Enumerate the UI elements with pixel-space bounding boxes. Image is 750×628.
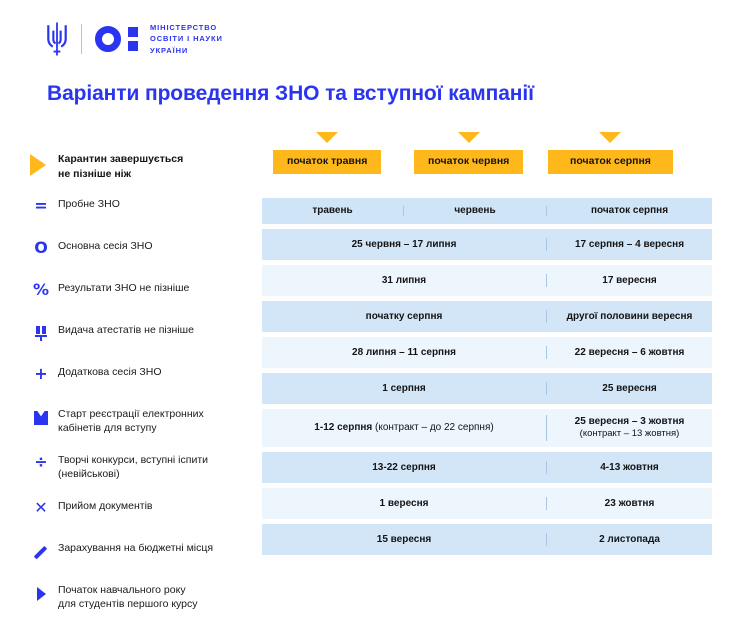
- cell-right-note: (контракт – 13 жовтня): [580, 428, 680, 441]
- legend-label-line2: кабінетів для вступу: [58, 421, 204, 435]
- scenario-august[interactable]: початок серпня: [548, 132, 673, 174]
- cell-left: 15 вересня: [262, 533, 546, 547]
- legend-item-label: Творчі конкурси, вступні іспити (невійсь…: [58, 452, 208, 482]
- cell-right: 17 серпня – 4 вересня: [546, 238, 712, 252]
- cell-left: 31 липня: [262, 274, 546, 288]
- legend-item-probne-zno: = Пробне ЗНО: [28, 196, 263, 238]
- table-row: 28 липня – 11 серпня 22 вересня – 6 жовт…: [262, 337, 712, 368]
- legend-label-line1: Пробне ЗНО: [58, 197, 120, 211]
- ministry-name: МІНІСТЕРСТВО ОСВІТИ І НАУКИ УКРАЇНИ: [150, 22, 223, 57]
- quarantine-note: Карантин завершується не пізніше ніж: [30, 152, 260, 182]
- legend-label-line1: Основна сесія ЗНО: [58, 239, 153, 253]
- triangle-right-icon: [30, 154, 46, 176]
- triangle-down-icon: [316, 132, 338, 143]
- ukraine-trident-icon: [46, 22, 68, 56]
- equals-icon: =: [28, 196, 54, 214]
- ministry-ring-icon: [95, 26, 121, 52]
- triangle-down-icon: [458, 132, 480, 143]
- legend-label-line1: Початок навчального року: [58, 583, 198, 597]
- scenario-june-label: початок червня: [414, 150, 523, 174]
- column-header-may: травень: [262, 206, 403, 216]
- cell-right: другої половини вересня: [546, 310, 712, 324]
- legend-label-line2: (невійськові): [58, 467, 208, 481]
- ministry-name-line3: УКРАЇНИ: [150, 45, 223, 57]
- cell-right: 25 вересня – 3 жовтня (контракт – 13 жов…: [546, 415, 712, 441]
- table-header-row: травень червень початок серпня: [262, 198, 712, 224]
- legend-label-line1: Прийом документів: [58, 499, 152, 513]
- cell-right-main: 25 вересня – 3 жовтня: [575, 415, 685, 429]
- cell-left: 1 серпня: [262, 382, 546, 396]
- cell-right: 23 жовтня: [546, 497, 712, 511]
- cell-left: початку серпня: [262, 310, 546, 324]
- legend-item-dodatkova-sesiya: + Додаткова сесія ЗНО: [28, 364, 263, 406]
- circle-icon: O: [28, 238, 54, 256]
- cell-left-main: 1-12 серпня: [314, 422, 372, 433]
- legend-label-line1: Видача атестатів не пізніше: [58, 323, 194, 337]
- legend-item-pochatok-navchannya: Початок навчального року для студентів п…: [28, 582, 263, 628]
- cell-right: 17 вересня: [546, 274, 712, 288]
- logo-divider: [81, 24, 82, 54]
- legend-item-reestratsiya-kabinetiv: Старт реєстрації електронних кабінетів д…: [28, 406, 263, 452]
- legend-item-label: Зарахування на бюджетні місця: [58, 540, 213, 555]
- quarantine-label: Карантин завершується не пізніше ніж: [58, 152, 183, 182]
- column-header-august: початок серпня: [546, 206, 712, 216]
- legend-item-label: Додаткова сесія ЗНО: [58, 364, 162, 379]
- legend-item-label: Прийом документів: [58, 498, 152, 513]
- table-row: 13-22 серпня 4-13 жовтня: [262, 452, 712, 483]
- table-row: 25 червня – 17 липня 17 серпня – 4 верес…: [262, 229, 712, 260]
- legend-item-label: Видача атестатів не пізніше: [58, 322, 194, 337]
- legend-item-label: Результати ЗНО не пізніше: [58, 280, 189, 295]
- schedule-table: травень червень початок серпня 25 червня…: [262, 198, 712, 555]
- legend-label-line1: Творчі конкурси, вступні іспити: [58, 453, 208, 467]
- page-title: Варіанти проведення ЗНО та вступної камп…: [47, 82, 534, 106]
- table-row: 1-12 серпня (контракт – до 22 серпня) 25…: [262, 409, 712, 447]
- legend-item-osnovna-sesiya: O Основна сесія ЗНО: [28, 238, 263, 280]
- plus-icon: +: [28, 364, 54, 382]
- legend-item-label: Основна сесія ЗНО: [58, 238, 153, 253]
- ministry-name-line1: МІНІСТЕРСТВО: [150, 22, 223, 34]
- ministry-logo: МІНІСТЕРСТВО ОСВІТИ І НАУКИ УКРАЇНИ: [46, 18, 223, 60]
- cell-left: 1 вересня: [262, 497, 546, 511]
- legend-label-line1: Зарахування на бюджетні місця: [58, 541, 213, 555]
- legend-item-label: Початок навчального року для студентів п…: [58, 582, 198, 612]
- cabinet-icon: [28, 406, 54, 425]
- legend-item-pryyom-dokumentiv: ✕ Прийом документів: [28, 498, 263, 540]
- cell-left: 1-12 серпня (контракт – до 22 серпня): [262, 421, 546, 435]
- legend-list: = Пробне ЗНО O Основна сесія ЗНО % Резул…: [28, 196, 263, 628]
- legend-label-line1: Старт реєстрації електронних: [58, 407, 204, 421]
- table-row: початку серпня другої половини вересня: [262, 301, 712, 332]
- divide-icon: ÷: [28, 452, 54, 470]
- ministry-name-line2: ОСВІТИ І НАУКИ: [150, 33, 223, 45]
- cell-left: 25 червня – 17 липня: [262, 238, 546, 252]
- table-row: 1 серпня 25 вересня: [262, 373, 712, 404]
- legend-item-rezultaty-zno: % Результати ЗНО не пізніше: [28, 280, 263, 322]
- ministry-squares-icon: [128, 27, 138, 51]
- quarantine-line1: Карантин завершується: [58, 152, 183, 167]
- ministry-emblem: [95, 26, 138, 52]
- scenario-may[interactable]: початок травня: [273, 132, 381, 174]
- legend-item-tvorchi-konkursy: ÷ Творчі конкурси, вступні іспити (невій…: [28, 452, 263, 498]
- multiply-icon: ✕: [28, 498, 54, 516]
- table-row: 31 липня 17 вересня: [262, 265, 712, 296]
- triangle-down-icon: [599, 132, 621, 143]
- legend-label-line1: Додаткова сесія ЗНО: [58, 365, 162, 379]
- certificate-icon: [28, 322, 54, 341]
- cell-left-note: (контракт – до 22 серпня): [375, 422, 494, 433]
- legend-label-line2: для студентів першого курсу: [58, 597, 198, 611]
- scenario-june[interactable]: початок червня: [414, 132, 523, 174]
- scenario-august-label: початок серпня: [548, 150, 673, 174]
- column-header-june: червень: [403, 206, 546, 216]
- table-row: 15 вересня 2 листопада: [262, 524, 712, 555]
- legend-item-vydacha-atestativ: Видача атестатів не пізніше: [28, 322, 263, 364]
- cell-right: 22 вересня – 6 жовтня: [546, 346, 712, 360]
- table-row: 1 вересня 23 жовтня: [262, 488, 712, 519]
- cell-right: 2 листопада: [546, 533, 712, 547]
- legend-item-label: Пробне ЗНО: [58, 196, 120, 211]
- triangle-right-icon: [28, 582, 54, 601]
- scenario-may-label: початок травня: [273, 150, 381, 174]
- legend-label-line1: Результати ЗНО не пізніше: [58, 281, 189, 295]
- legend-item-label: Старт реєстрації електронних кабінетів д…: [58, 406, 204, 436]
- scenario-headers: початок травня початок червня початок се…: [262, 132, 712, 182]
- quarantine-line2: не пізніше ніж: [58, 167, 183, 182]
- cell-right: 4-13 жовтня: [546, 461, 712, 475]
- cell-left: 13-22 серпня: [262, 461, 546, 475]
- cell-right: 25 вересня: [546, 382, 712, 396]
- percent-icon: %: [28, 280, 54, 298]
- cell-left: 28 липня – 11 серпня: [262, 346, 546, 360]
- pencil-icon: [28, 540, 54, 559]
